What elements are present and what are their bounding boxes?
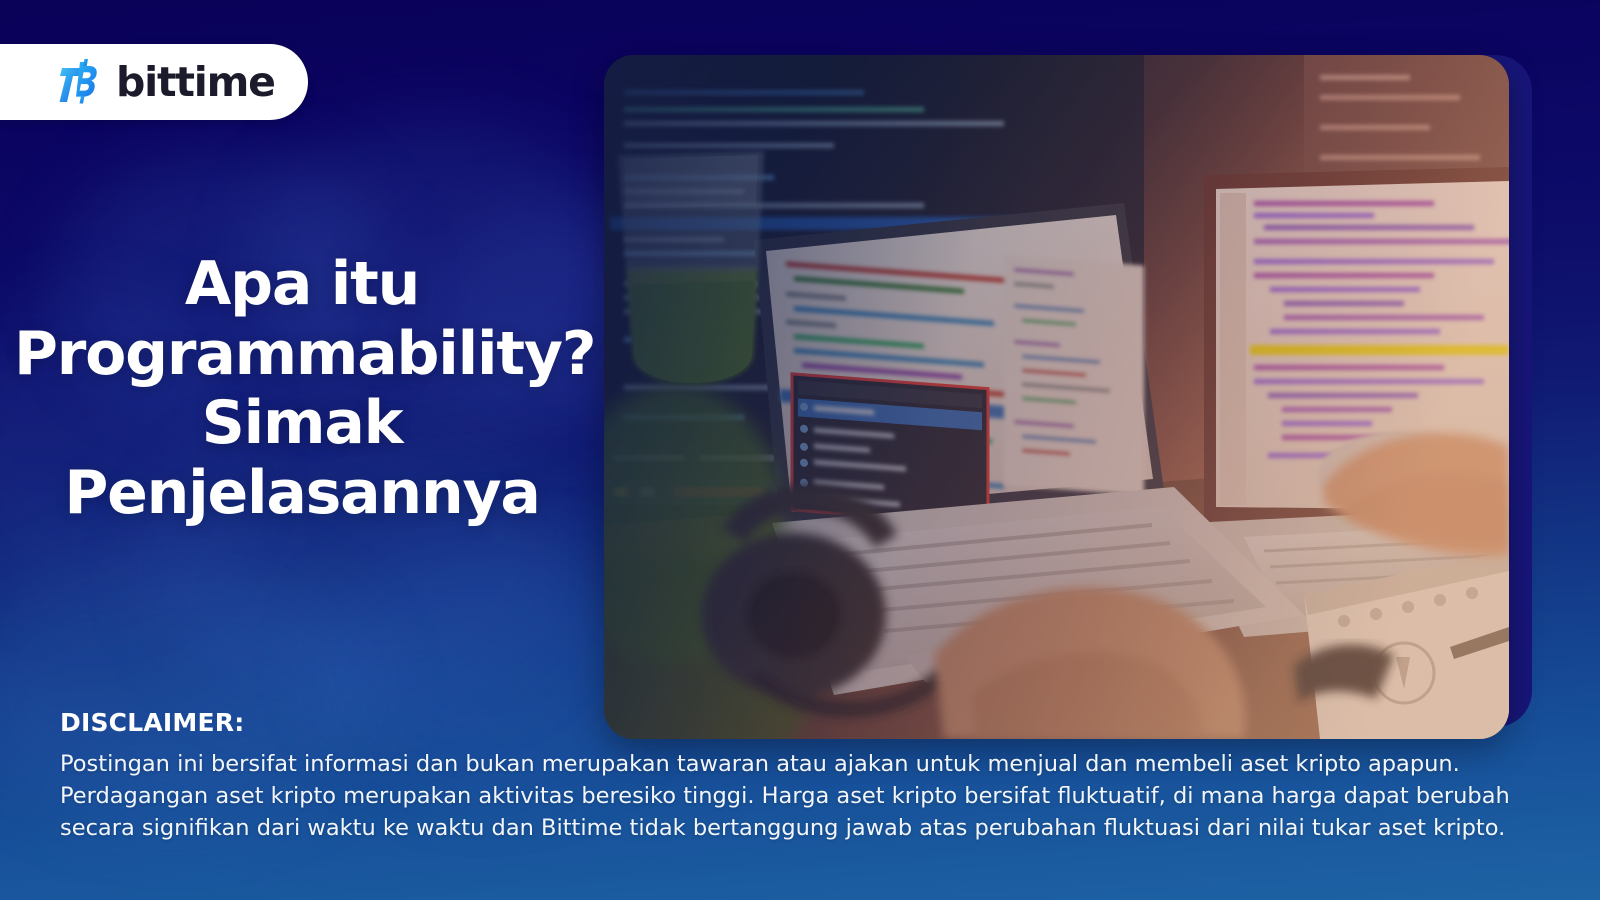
disclaimer-body: Postingan ini bersifat informasi dan buk… (60, 749, 1550, 845)
hero-photo-illustration (604, 55, 1509, 739)
page-title: Apa itu Programmability? Simak Penjelasa… (0, 250, 604, 528)
hero-photo (604, 55, 1509, 739)
disclaimer-title: DISCLAIMER: (60, 708, 1550, 737)
banner-canvas: bittime Apa itu Programmability? Simak P… (0, 0, 1600, 900)
disclaimer-block: DISCLAIMER: Postingan ini bersifat infor… (60, 708, 1550, 845)
brand-logo-pill[interactable]: bittime (0, 44, 308, 120)
brand-logo-wordmark: bittime (116, 62, 275, 103)
bittime-b-mark-icon (58, 58, 102, 106)
